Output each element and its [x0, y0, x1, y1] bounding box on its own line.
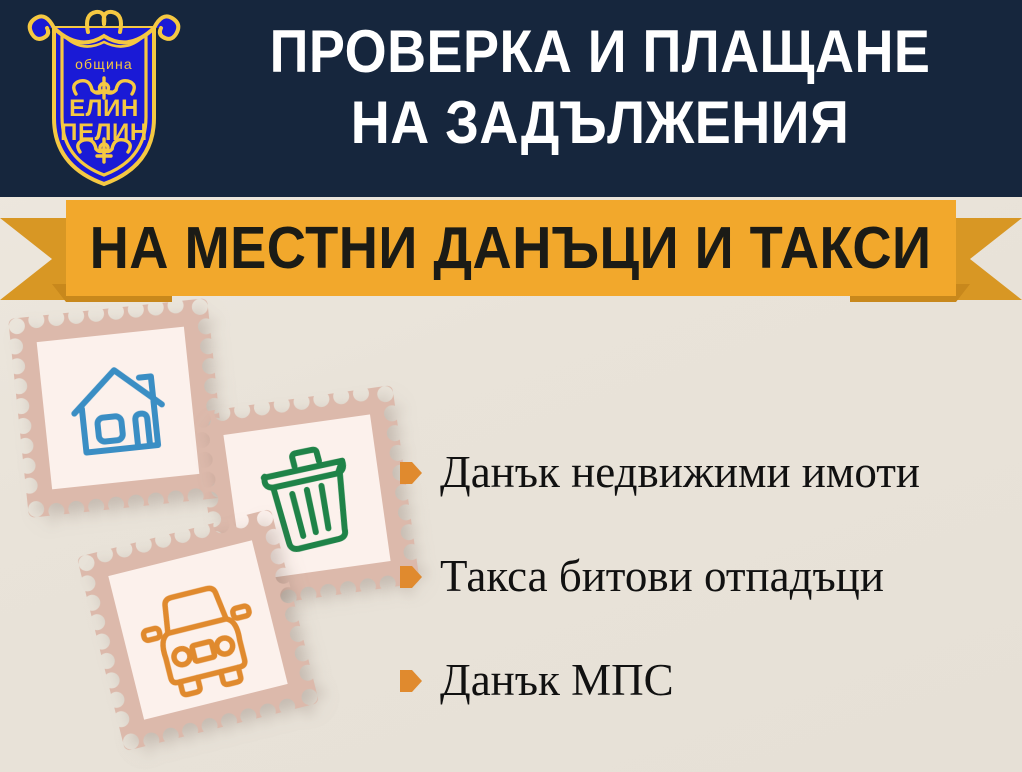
list-item-label: Данък недвижими имоти	[440, 447, 920, 497]
logo-text-elin: ЕЛИН	[69, 95, 139, 122]
page-title: ПРОВЕРКА И ПЛАЩАНЕ НА ЗАДЪЛЖЕНИЯ	[231, 16, 969, 158]
bullet-arrow-icon	[400, 460, 422, 486]
list-item[interactable]: Такса битови отпадъци	[400, 524, 1020, 628]
scroll-left	[30, 16, 54, 39]
list-item[interactable]: Данък недвижими имоти	[400, 420, 1020, 524]
list-item[interactable]: Данък МПС	[400, 628, 1020, 732]
ribbon-label: НА МЕСТНИ ДАНЪЦИ И ТАКСИ	[90, 217, 932, 279]
logo-text-obshtina: община	[75, 56, 133, 72]
bullet-arrow-icon	[400, 668, 422, 694]
scroll-right	[154, 16, 178, 39]
ribbon-main-panel: НА МЕСТНИ ДАНЪЦИ И ТАКСИ	[66, 200, 956, 296]
logo-text-pelin: ПЕЛИН	[60, 119, 148, 146]
ribbon-banner: НА МЕСТНИ ДАНЪЦИ И ТАКСИ	[0, 196, 1022, 306]
page-title-line-1: ПРОВЕРКА И ПЛАЩАНЕ	[270, 18, 931, 85]
stamp-card-property-tax	[8, 298, 228, 518]
list-item-label: Такса битови отпадъци	[440, 551, 884, 601]
tax-type-list: Данък недвижими имоти Такса битови отпад…	[400, 420, 1020, 732]
list-item-label: Данък МПС	[440, 655, 674, 705]
page-title-line-2: НА ЗАДЪЛЖЕНИЯ	[231, 87, 969, 158]
stamp-paper	[37, 327, 200, 490]
stamp-card-group	[0, 290, 430, 772]
poster-canvas: ПРОВЕРКА И ПЛАЩАНЕ НА ЗАДЪЛЖЕНИЯ	[0, 0, 1022, 772]
bullet-arrow-icon	[400, 564, 422, 590]
municipality-logo: община ЕЛИН ПЕЛИН	[24, 6, 184, 188]
